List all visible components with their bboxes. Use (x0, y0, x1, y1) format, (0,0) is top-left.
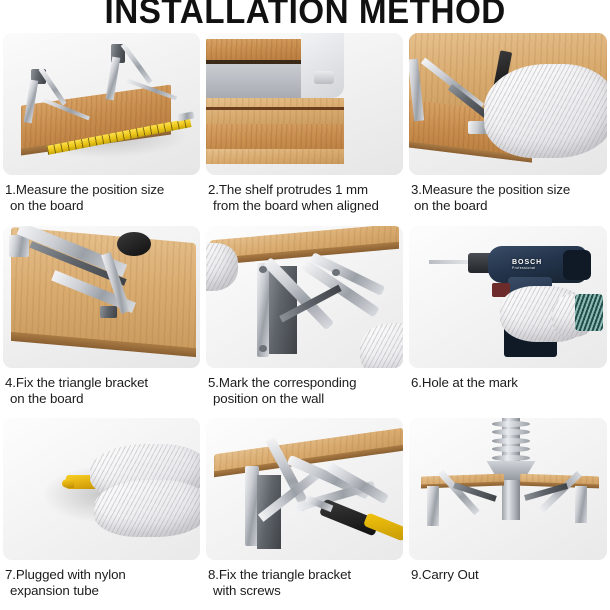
step-caption-3: 3.Measure the position size on the board (409, 175, 607, 213)
page-title: INSTALLATION METHOD (0, 0, 610, 32)
step-photo-5 (206, 226, 403, 368)
step-caption-4-line2: on the board (5, 391, 198, 407)
step-caption-1-line2: on the board (5, 198, 198, 214)
step-card-3: 3.Measure the position size on the board (406, 33, 610, 226)
drill-brand-sub: Professional (512, 266, 542, 270)
drill-brand: BOSCH Professional (512, 259, 542, 270)
step-card-2: 2.The shelf protrudes 1 mm from the boar… (203, 33, 406, 226)
step-caption-8-line1: 8.Fix the triangle bracket (208, 567, 351, 582)
step-photo-3 (409, 33, 607, 175)
step-caption-9-line1: 9.Carry Out (411, 567, 479, 582)
step-card-7: 7.Plugged with nylon expansion tube (0, 418, 203, 610)
step-card-6: BOSCH Professional 6.Hole at the mark (406, 226, 610, 418)
steps-grid: 1.Measure the position size on the board (0, 33, 610, 610)
step-caption-7-line2: expansion tube (5, 583, 198, 599)
page-title-text: INSTALLATION METHOD (104, 0, 505, 32)
step-photo-2 (206, 33, 403, 175)
step-caption-3-line2: on the board (411, 198, 605, 214)
step-photo-1 (3, 33, 200, 175)
step-caption-5-line2: position on the wall (208, 391, 401, 407)
step-card-8: 8.Fix the triangle bracket with screws (203, 418, 406, 610)
step-photo-7 (3, 418, 200, 560)
step-caption-6-line1: 6.Hole at the mark (411, 375, 518, 390)
step-caption-5-line1: 5.Mark the corresponding (208, 375, 356, 390)
step-caption-5: 5.Mark the corresponding position on the… (206, 368, 403, 406)
step-card-1: 1.Measure the position size on the board (0, 33, 203, 226)
step-caption-7-line1: 7.Plugged with nylon (5, 567, 126, 582)
drill-brand-name: BOSCH (512, 259, 542, 266)
step-caption-7: 7.Plugged with nylon expansion tube (3, 560, 200, 598)
step-card-4: 4.Fix the triangle bracket on the board (0, 226, 203, 418)
installation-method-infographic: INSTALLATION METHOD (0, 0, 610, 610)
step-caption-8: 8.Fix the triangle bracket with screws (206, 560, 403, 598)
step-caption-4-line1: 4.Fix the triangle bracket (5, 375, 148, 390)
step-caption-2-line1: 2.The shelf protrudes 1 mm (208, 182, 368, 197)
step-caption-1: 1.Measure the position size on the board (3, 175, 200, 213)
step-caption-2-line2: from the board when aligned (208, 198, 401, 214)
step-photo-6: BOSCH Professional (409, 226, 607, 368)
step-photo-4 (3, 226, 200, 368)
step-caption-4: 4.Fix the triangle bracket on the board (3, 368, 200, 406)
step-caption-6: 6.Hole at the mark (409, 368, 607, 391)
step-photo-9 (409, 418, 607, 560)
step-photo-8 (206, 418, 403, 560)
step-caption-2: 2.The shelf protrudes 1 mm from the boar… (206, 175, 403, 213)
step-caption-3-line1: 3.Measure the position size (411, 182, 570, 197)
step-caption-1-line1: 1.Measure the position size (5, 182, 164, 197)
step-caption-8-line2: with screws (208, 583, 401, 599)
step-card-5: 5.Mark the corresponding position on the… (203, 226, 406, 418)
step-caption-9: 9.Carry Out (409, 560, 607, 583)
step-card-9: 9.Carry Out (406, 418, 610, 610)
